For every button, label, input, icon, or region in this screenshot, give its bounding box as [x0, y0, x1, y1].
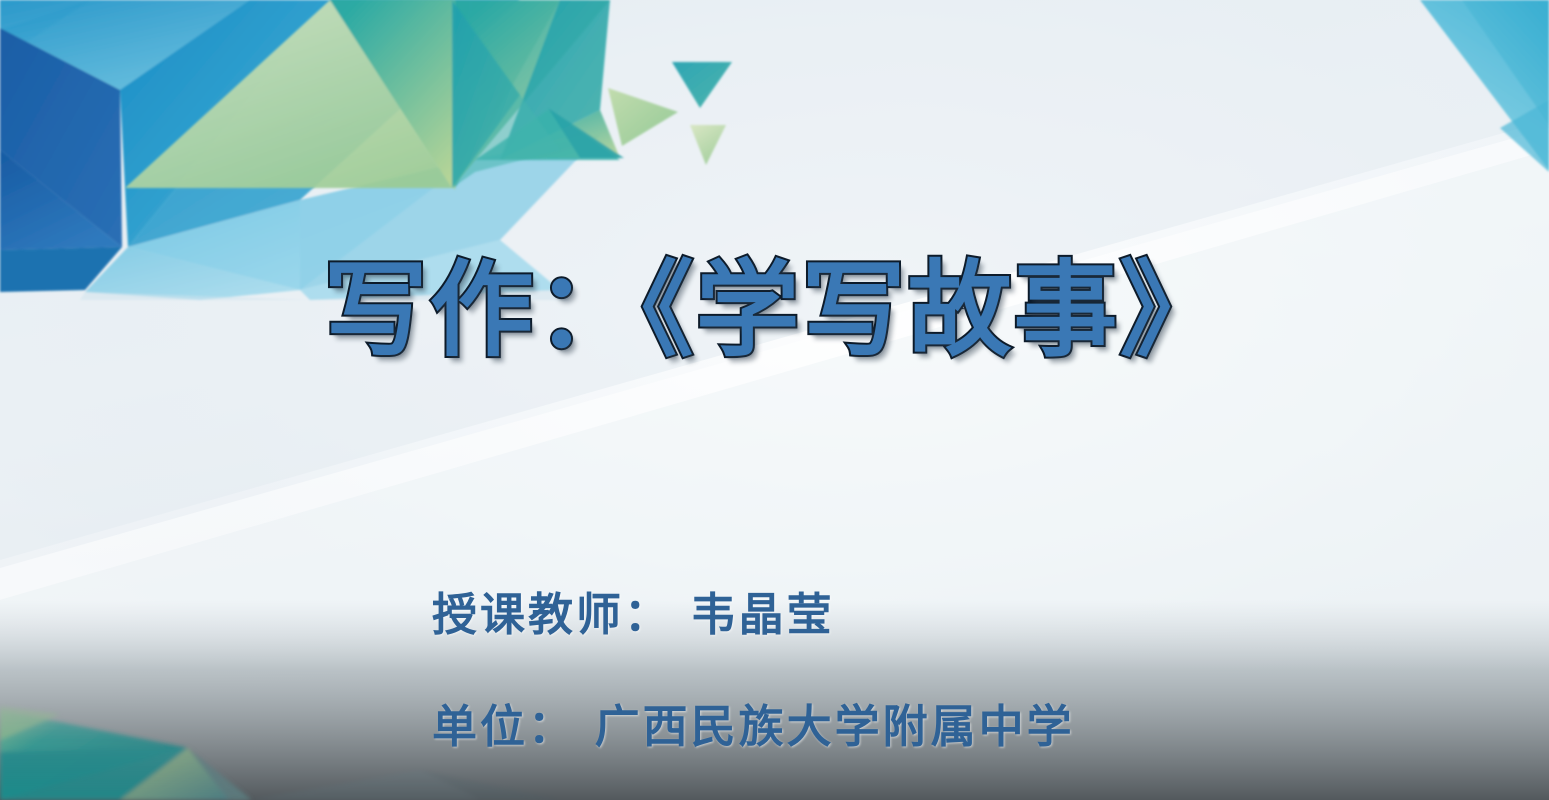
presentation-slide: 写作：《学写故事》 授课教师： 韦晶莹 单位： 广西民族大学附属中学: [0, 0, 1549, 800]
instructor-line: 授课教师： 韦晶莹: [432, 578, 1332, 643]
affiliation-line: 单位： 广西民族大学附属中学: [432, 690, 1332, 755]
subtitle-container: 授课教师： 韦晶莹 单位： 广西民族大学附属中学: [432, 578, 1332, 755]
